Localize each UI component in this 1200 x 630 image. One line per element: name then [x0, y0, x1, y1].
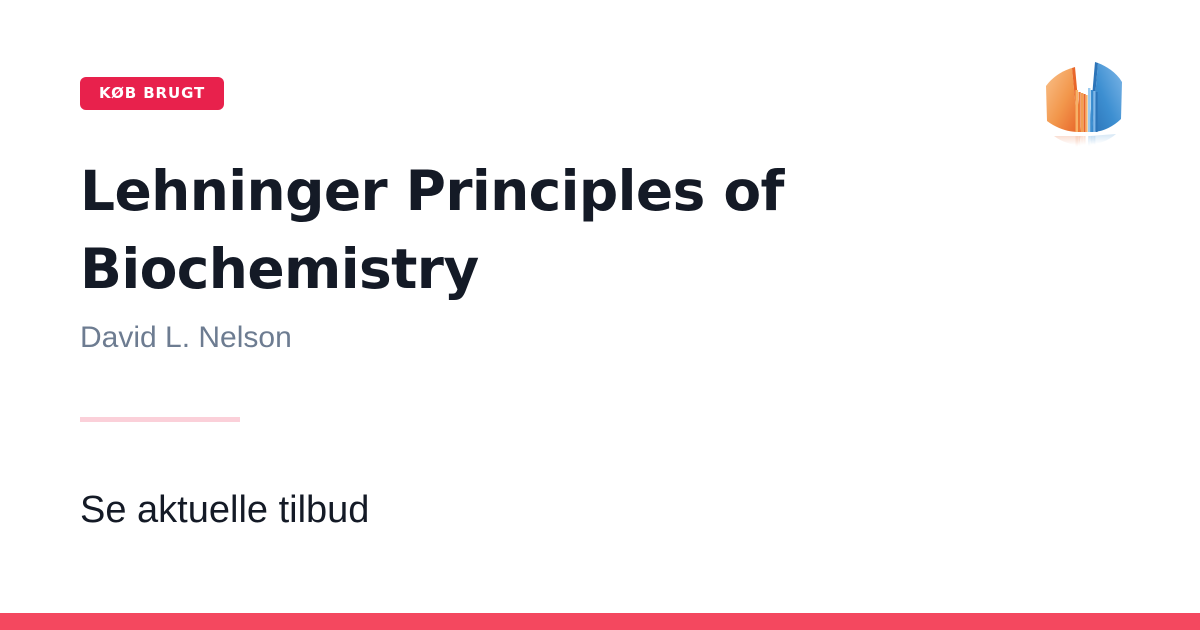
- bottom-accent-bar: [0, 613, 1200, 630]
- status-badge: KØB BRUGT: [80, 77, 224, 110]
- logo-left-page: [1046, 67, 1088, 132]
- open-book-logo: [1032, 48, 1136, 152]
- logo-right-page: [1088, 62, 1122, 132]
- book-author: David L. Nelson: [80, 318, 292, 358]
- divider: [80, 417, 240, 422]
- status-badge-label: KØB BRUGT: [99, 86, 205, 101]
- share-card: KØB BRUGT: [0, 0, 1200, 630]
- logo-reflection: [1054, 134, 1116, 147]
- page-title: Lehninger Principles of Biochemistry: [80, 152, 960, 308]
- cta-text: Se aktuelle tilbud: [80, 484, 369, 536]
